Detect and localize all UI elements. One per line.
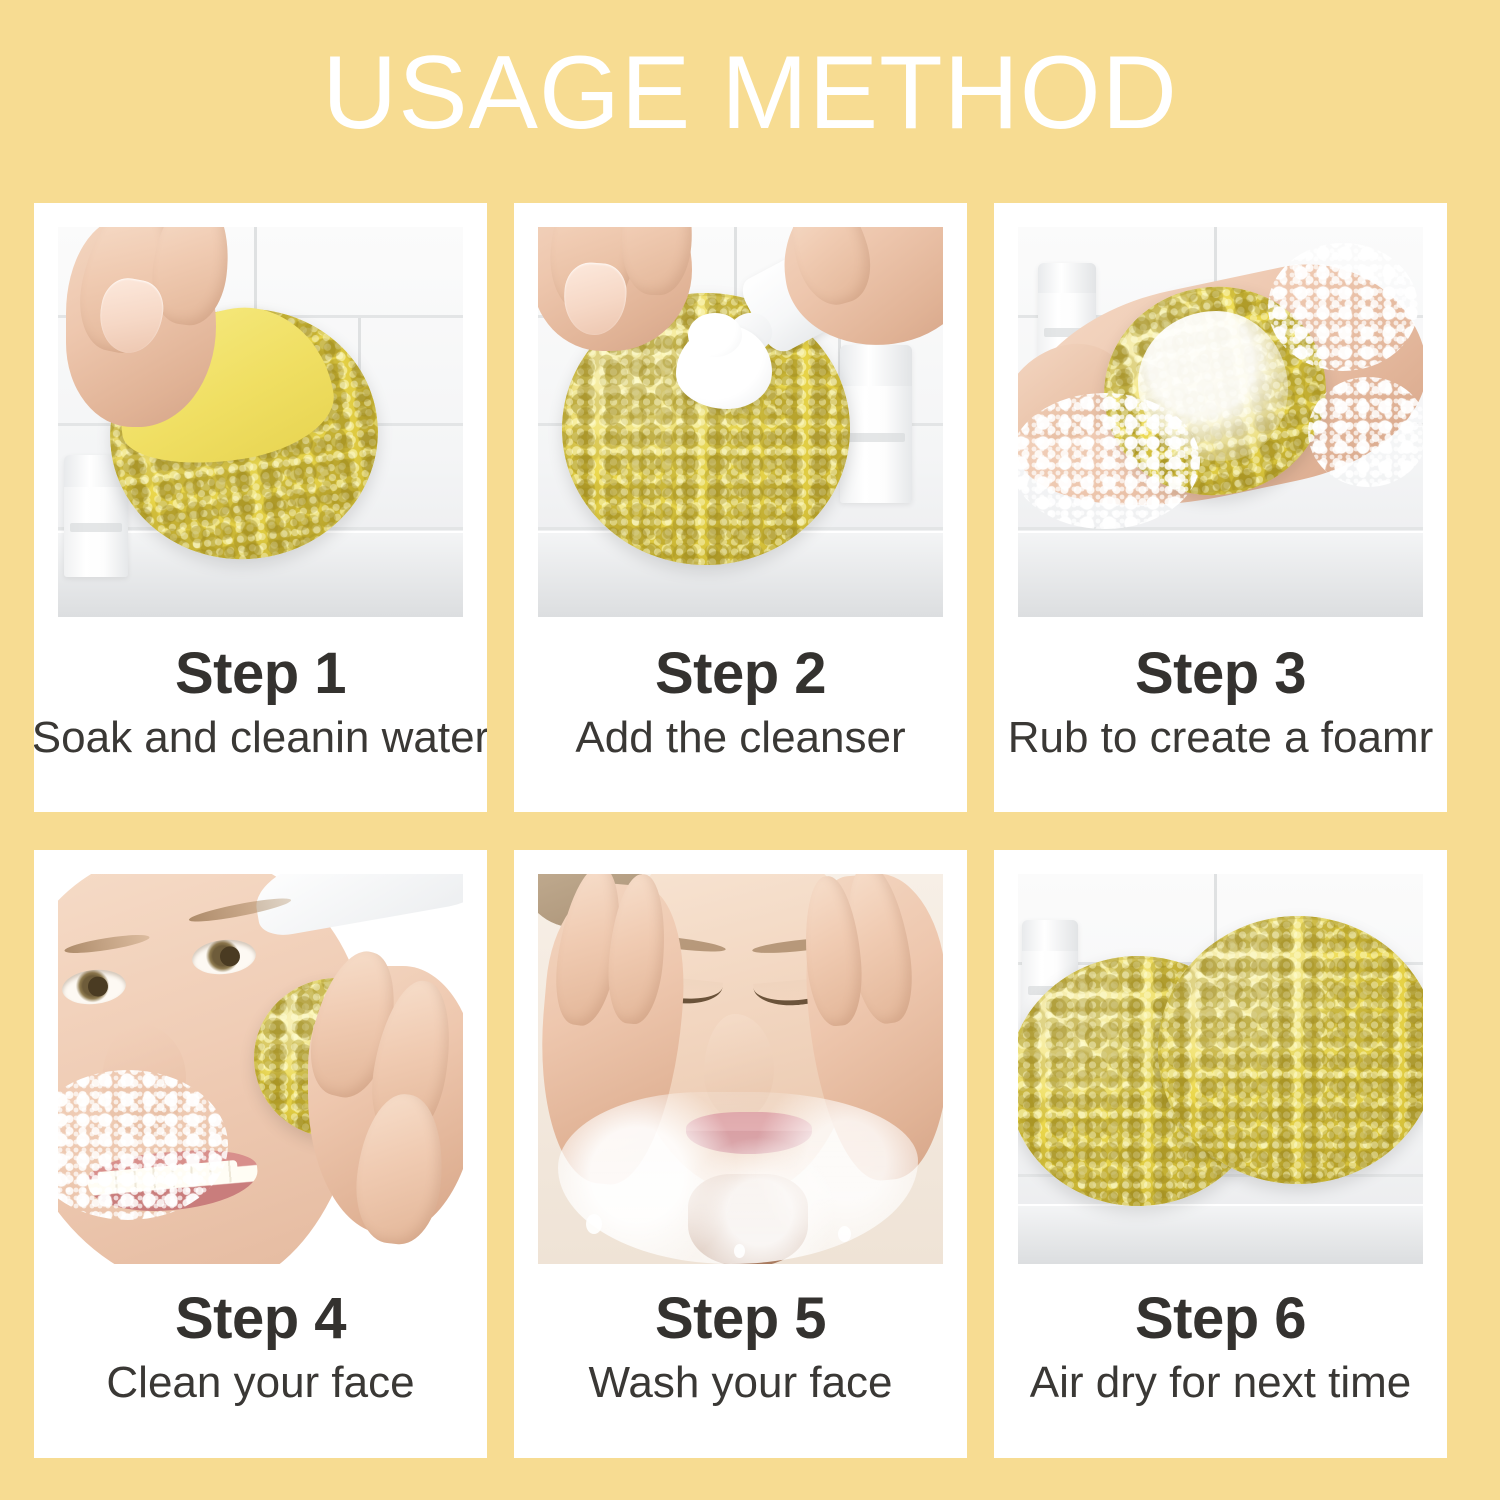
water-droplet: [586, 1214, 602, 1234]
step-5-photo: [538, 874, 943, 1264]
step-3-photo: [1018, 227, 1423, 617]
hair-towel: [249, 874, 463, 939]
step-3-heading: Step 3: [1135, 643, 1306, 705]
step-5-caption: Wash your face: [588, 1358, 892, 1408]
step-5-heading: Step 5: [655, 1288, 826, 1350]
step-1-photo: [58, 227, 463, 617]
step-4-photo: [58, 874, 463, 1264]
step-2-heading: Step 2: [655, 643, 826, 705]
water-droplet: [838, 1226, 851, 1242]
step-3-caption: Rub to create a foamr: [1008, 713, 1434, 763]
splashing-water: [558, 1092, 918, 1264]
soap-bubbles-upper: [1268, 243, 1418, 371]
counter-surface: [1018, 1204, 1423, 1264]
step-1-caption: Soak and cleanin water: [34, 713, 487, 763]
step-card-5[interactable]: Step 5 Wash your face: [514, 850, 967, 1458]
step-2-photo: [538, 227, 943, 617]
counter-surface: [1018, 531, 1423, 617]
step-6-caption: Air dry for next time: [1030, 1358, 1411, 1408]
cosmetic-bottle: [840, 345, 912, 503]
soap-bubbles-right: [1308, 377, 1423, 487]
step-4-caption: Clean your face: [106, 1358, 414, 1408]
step-card-1[interactable]: Step 1 Soak and cleanin water: [34, 203, 487, 812]
step-card-2[interactable]: Step 2 Add the cleanser: [514, 203, 967, 812]
page-title: USAGE METHOD: [0, 34, 1500, 152]
step-card-6[interactable]: Step 6 Air dry for next time: [994, 850, 1447, 1458]
step-2-caption: Add the cleanser: [575, 713, 905, 763]
step-1-heading: Step 1: [175, 643, 346, 705]
soap-bubbles-lower: [1018, 393, 1200, 529]
cleanser-dollop-highlight: [688, 313, 742, 357]
step-6-heading: Step 6: [1135, 1288, 1306, 1350]
water-droplet: [734, 1244, 745, 1258]
step-card-4[interactable]: Step 4 Clean your face: [34, 850, 487, 1458]
sponge-disc-front: [1158, 916, 1423, 1184]
step-4-heading: Step 4: [175, 1288, 346, 1350]
step-6-photo: [1018, 874, 1423, 1264]
usage-steps-grid: Step 1 Soak and cleanin water: [34, 203, 1466, 1458]
step-card-3[interactable]: Step 3 Rub to create a foamr: [994, 203, 1447, 812]
